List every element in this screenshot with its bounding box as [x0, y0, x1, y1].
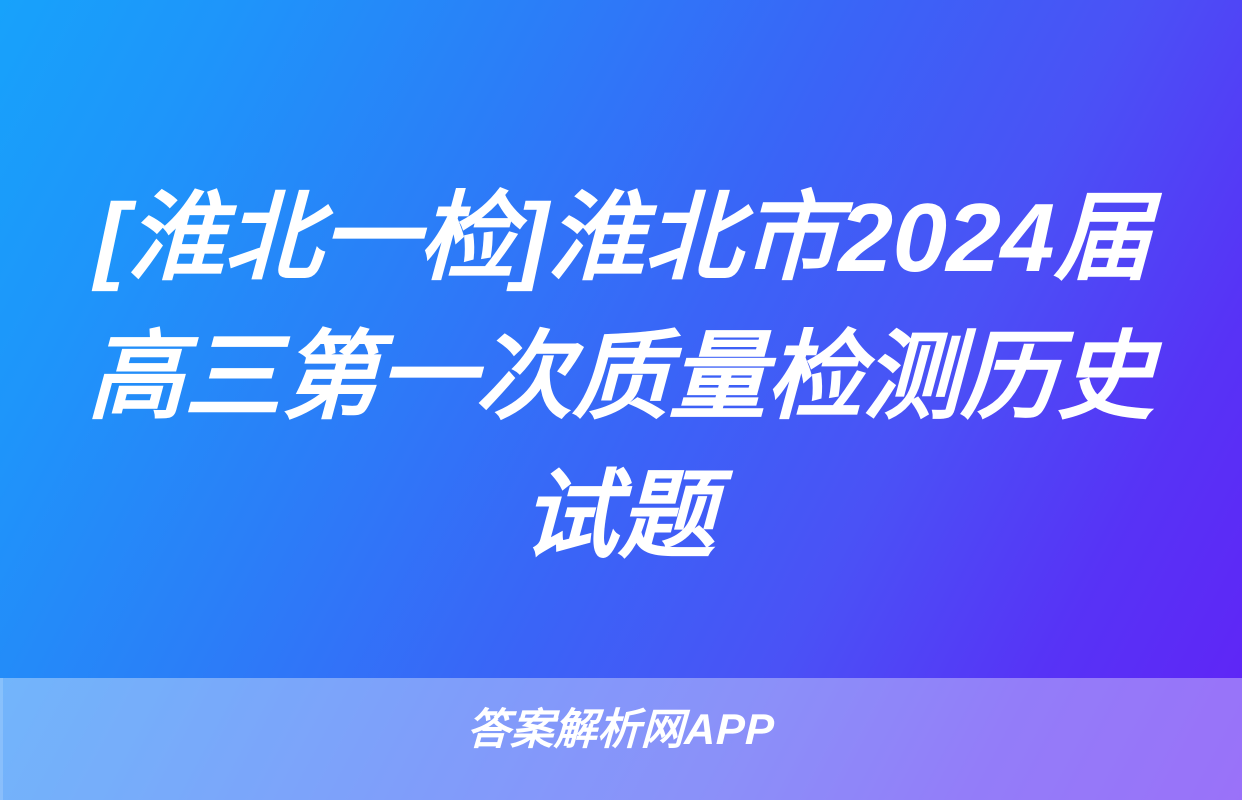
title-block: [淮北一检]淮北市2024届高三第一次质量检测历史试题	[0, 168, 1242, 585]
page-title: [淮北一检]淮北市2024届高三第一次质量检测历史试题	[54, 168, 1187, 585]
title-card: [淮北一检]淮北市2024届高三第一次质量检测历史试题 答案解析网APP	[0, 0, 1242, 800]
watermark-row: 答案解析网APP	[0, 702, 1242, 758]
app-watermark-label: 答案解析网APP	[466, 702, 775, 758]
